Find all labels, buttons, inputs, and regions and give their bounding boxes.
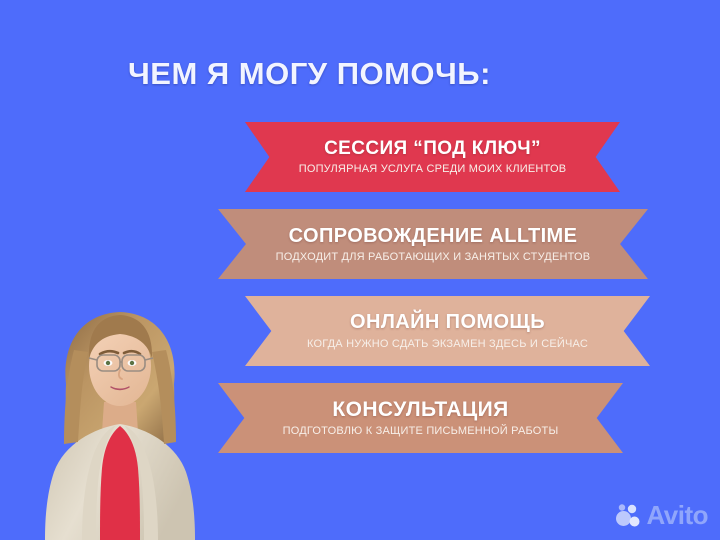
service-ribbon-2[interactable]: СОПРОВОЖДЕНИЕ ALLTIME ПОДХОДИТ ДЛЯ РАБОТ… — [218, 209, 648, 279]
poster-canvas: ЧЕМ Я МОГУ ПОМОЧЬ: СЕССИЯ “ПОД КЛЮЧ” ПОП… — [0, 0, 720, 540]
portrait-photo — [42, 292, 198, 540]
page-title: ЧЕМ Я МОГУ ПОМОЧЬ: — [128, 56, 491, 92]
service-ribbon-3[interactable]: ОНЛАЙН ПОМОЩЬ КОГДА НУЖНО СДАТЬ ЭКЗАМЕН … — [245, 296, 650, 366]
service-ribbon-2-title: СОПРОВОЖДЕНИЕ ALLTIME — [289, 226, 578, 246]
service-ribbon-1[interactable]: СЕССИЯ “ПОД КЛЮЧ” ПОПУЛЯРНАЯ УСЛУГА СРЕД… — [245, 122, 620, 192]
service-ribbon-1-title: СЕССИЯ “ПОД КЛЮЧ” — [324, 139, 541, 158]
service-ribbon-1-subtitle: ПОПУЛЯРНАЯ УСЛУГА СРЕДИ МОИХ КЛИЕНТОВ — [299, 164, 567, 175]
service-ribbon-4-subtitle: ПОДГОТОВЛЮ К ЗАЩИТЕ ПИСЬМЕННОЙ РАБОТЫ — [283, 426, 559, 437]
avito-dots-icon — [615, 502, 641, 528]
service-ribbon-2-subtitle: ПОДХОДИТ ДЛЯ РАБОТАЮЩИХ И ЗАНЯТЫХ СТУДЕН… — [276, 252, 591, 263]
service-ribbon-4-title: КОНСУЛЬТАЦИЯ — [332, 399, 508, 420]
avito-wordmark: Avito — [646, 502, 708, 528]
service-ribbon-3-subtitle: КОГДА НУЖНО СДАТЬ ЭКЗАМЕН ЗДЕСЬ И СЕЙЧАС — [307, 339, 588, 350]
avito-watermark: Avito — [615, 502, 708, 528]
service-ribbon-4[interactable]: КОНСУЛЬТАЦИЯ ПОДГОТОВЛЮ К ЗАЩИТЕ ПИСЬМЕН… — [218, 383, 623, 453]
service-ribbon-3-title: ОНЛАЙН ПОМОЩЬ — [350, 312, 545, 332]
